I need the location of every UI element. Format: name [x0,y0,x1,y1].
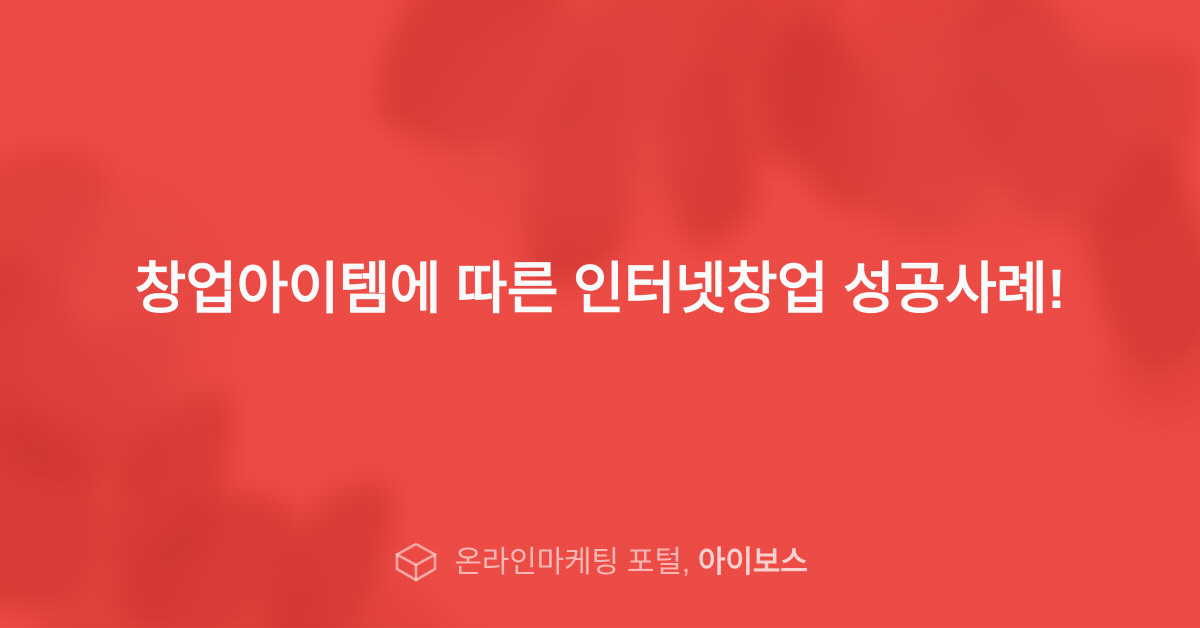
leaf-shadow [1064,129,1200,381]
promo-banner: 창업아이템에 따른 인터넷창업 성공사례! 온라인마케팅 포털, 아이보스 [0,0,1200,628]
brand-tagline-prefix: 온라인마케팅 포털, [454,546,698,579]
brand-name: 아이보스 [698,546,808,579]
leaf-shadow [851,50,1050,260]
leaf-shadow [0,386,121,628]
leaf-shadow [727,0,930,226]
leaf-shadow [665,0,875,193]
brand-tagline: 온라인마케팅 포털, 아이보스 [454,548,807,578]
page-title: 창업아이템에 따른 인터넷창업 성공사례! [0,258,1200,320]
cube-logo-icon [392,539,440,587]
leaf-shadow [850,0,1150,240]
leaf-shadow [430,0,710,230]
leaf-shadow [920,0,1135,223]
leaf-shadow [0,109,137,361]
leaf-shadow [823,0,1029,157]
leaf-shadow [998,7,1200,264]
leaf-shadow [351,0,582,177]
leaf-shadow [445,0,622,165]
brand-footer: 온라인마케팅 포털, 아이보스 [0,536,1200,590]
leaf-shadow [645,64,764,252]
leaf-shadow [9,323,187,512]
leaf-shadow [553,0,812,158]
